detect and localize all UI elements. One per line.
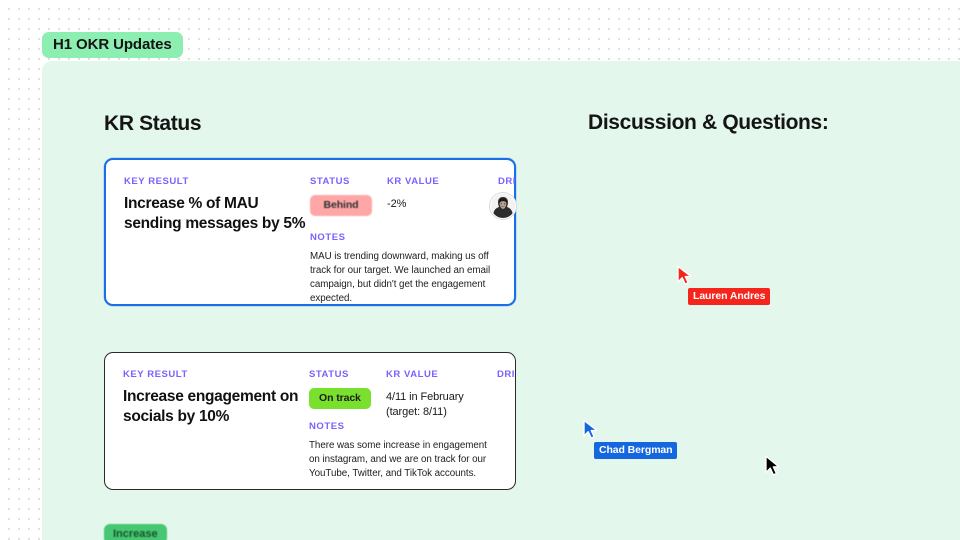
kr-card-value-column: KR VALUE 4/11 in February (target: 8/11) [386,369,478,419]
cursor-arrow-icon [582,419,599,440]
collaborator-name-label: Chad Bergman [594,442,677,459]
cursor-arrow-icon [676,265,693,286]
notes-label: NOTES [309,421,499,432]
kr-card-title[interactable]: Increase % of MAU sending messages by 5% [124,194,309,234]
whiteboard-canvas[interactable]: H1 OKR Updates KR Status Discussion & Qu… [0,0,960,540]
notes-label: NOTES [310,232,500,243]
mouse-pointer-icon [764,455,780,477]
kr-value-label: KR VALUE [387,176,479,187]
kr-card-dri-column: DRI [475,369,515,380]
status-label: STATUS [309,369,381,380]
status-label: STATUS [310,176,382,187]
kr-card-notes-text[interactable]: There was some increase in engagement on… [309,439,499,481]
kr-value-label: KR VALUE [386,369,478,380]
status-badge[interactable]: Behind [310,195,372,216]
kr-card[interactable]: KEY RESULT Increase engagement on social… [104,352,516,490]
status-badge[interactable]: On track [309,388,371,409]
collaborator-cursor-chad: Chad Bergman [582,419,677,459]
kr-card-key-result-column: KEY RESULT Increase engagement on social… [123,369,308,427]
kr-card-value-column: KR VALUE -2% [387,176,479,212]
avatar[interactable] [490,193,516,219]
kr-card-notes-block: NOTES There was some increase in engagem… [309,421,499,481]
kr-card-dri-column: DRI [476,176,516,219]
collaborator-cursor-lauren: Lauren Andres [676,265,770,305]
dri-label: DRI [475,369,515,380]
kr-card-title[interactable]: Increase engagement on socials by 10% [123,387,308,427]
kr-card-notes-text[interactable]: MAU is trending downward, making us off … [310,250,500,306]
discussion-questions-heading: Discussion & Questions: [588,111,829,135]
kr-value-text[interactable]: -2% [387,197,479,212]
key-result-label: KEY RESULT [123,369,308,380]
collaborator-name-label: Lauren Andres [688,288,770,305]
dri-label: DRI [476,176,516,187]
kr-card-status-column: STATUS Behind [310,176,382,216]
key-result-label: KEY RESULT [124,176,309,187]
kr-value-text[interactable]: 4/11 in February (target: 8/11) [386,390,478,419]
kr-card-status-column: STATUS On track [309,369,381,409]
kr-card-key-result-column: KEY RESULT Increase % of MAU sending mes… [124,176,309,234]
person-avatar-icon [491,194,515,218]
bottom-partial-pill[interactable]: Increase [104,524,167,540]
kr-status-heading: KR Status [104,112,201,136]
kr-card[interactable]: KEY RESULT Increase % of MAU sending mes… [104,158,516,306]
frame-title-tag[interactable]: H1 OKR Updates [42,32,183,58]
kr-card-notes-block: NOTES MAU is trending downward, making u… [310,232,500,306]
